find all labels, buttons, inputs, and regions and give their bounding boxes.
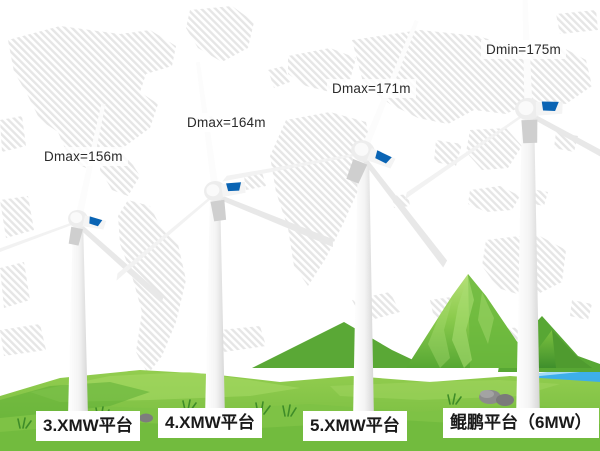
platform-label-3xmw: 3.XMW平台	[36, 411, 140, 441]
annotation-dmax-164: Dmax=164m	[182, 113, 271, 132]
turbine-rotor	[397, 0, 600, 199]
turbine-yaw	[521, 120, 538, 144]
blade	[402, 111, 530, 199]
platform-label-kunpeng: 鲲鹏平台（6MW）	[443, 408, 599, 438]
platform-label-5xmw: 5.XMW平台	[303, 411, 407, 441]
turbine-kunpeng	[328, 0, 600, 425]
annotation-dmax-156: Dmax=156m	[39, 147, 128, 166]
figure-canvas: Dmax=156m Dmax=164m Dmax=171m Dmin=175m …	[0, 0, 600, 451]
turbine-tower	[516, 109, 540, 423]
blade	[529, 108, 600, 192]
annotation-dmin-175: Dmin=175m	[481, 40, 566, 59]
platform-label-4xmw: 4.XMW平台	[158, 408, 262, 438]
annotation-dmax-171: Dmax=171m	[327, 79, 416, 98]
